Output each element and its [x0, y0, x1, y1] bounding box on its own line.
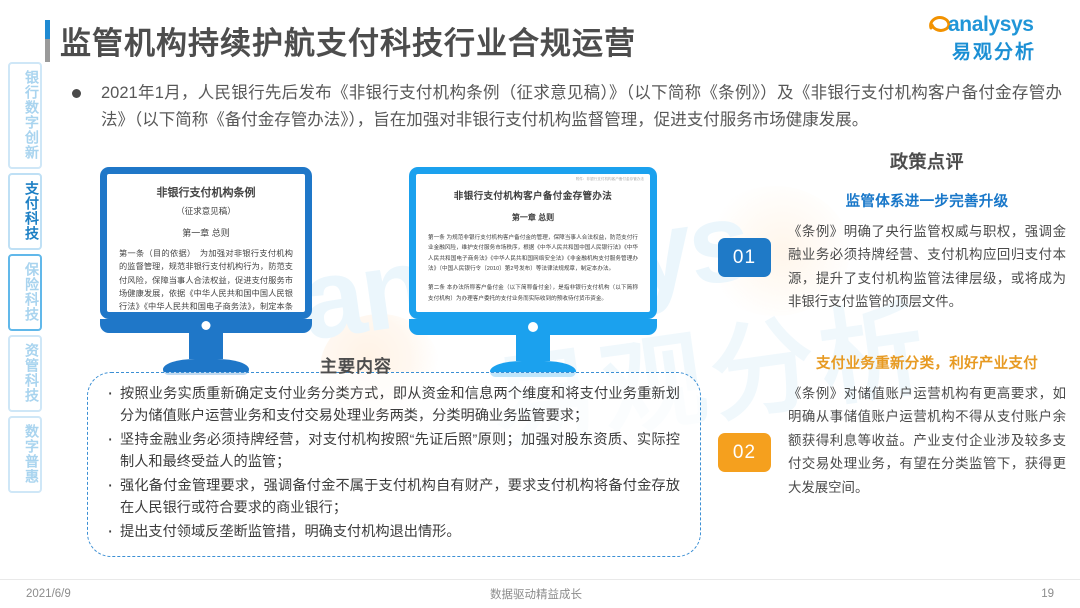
- commentary-subtitle-2: 支付业务重新分类，利好产业支付: [788, 352, 1066, 373]
- main-content-list: 按照业务实质重新确定支付业务分类方式，即从资金和信息两个维度和将支付业务重新划分…: [104, 383, 680, 543]
- sidebar-nav[interactable]: 银行数字创新 支付科技 保险科技 资管科技 数字普惠: [8, 62, 42, 493]
- main-content-box: 按照业务实质重新确定支付业务分类方式，即从资金和信息两个维度和将支付业务重新划分…: [87, 372, 701, 557]
- commentary-body-1: 《条例》明确了央行监管权威与职权，强调金融业务必须持牌经营、支付机构应回归支付本…: [788, 220, 1066, 314]
- sidebar-item-asset-management-tech[interactable]: 资管科技: [8, 335, 42, 412]
- doc-2-paragraph-1: 第一条 为规范非银行支付机构客户备付金的管理，保障当事人合法权益，防范支付行业金…: [428, 233, 638, 274]
- commentary-block-1: 监管体系进一步完善升级 《条例》明确了央行监管权威与职权，强调金融业务必须持牌经…: [788, 190, 1066, 314]
- monitor-2-power-dot-icon: [528, 322, 538, 332]
- status-badge-02: 02: [718, 433, 771, 472]
- sidebar-item-digital-inclusive-finance[interactable]: 数字普惠: [8, 416, 42, 493]
- intro-bullet-text: 2021年1月，人民银行先后发布《非银行支付机构条例（征求意见稿）》（以下简称《…: [101, 80, 1062, 133]
- monitor-1-power-dot-icon: [202, 321, 211, 330]
- doc-2-chapter: 第一章 总则: [428, 212, 638, 223]
- sidebar-item-insurance-tech[interactable]: 保险科技: [8, 254, 42, 331]
- doc-1-body: 第一条（目的依据） 为加强对非银行支付机构的监督管理，规范非银行支付机构行为，防…: [119, 247, 293, 312]
- doc-2-body: 第一条 为规范非银行支付机构客户备付金的管理，保障当事人合法权益，防范支付行业金…: [428, 233, 638, 304]
- doc-1-subtitle: （征求意见稿）: [119, 205, 293, 217]
- monitor-2-bezel: 附件：非银行支付机构客户备付金存管办法 非银行支付机构客户备付金存管办法 第一章…: [409, 167, 657, 319]
- doc-2-content: 非银行支付机构客户备付金存管办法 第一章 总则 第一条 为规范非银行支付机构客户…: [416, 174, 650, 312]
- monitor-2-screen: 附件：非银行支付机构客户备付金存管办法 非银行支付机构客户备付金存管办法 第一章…: [416, 174, 650, 312]
- list-item: 强化备付金管理要求，强调备付金不属于支付机构自有财产，要求支付机构将备付金存放在…: [104, 475, 680, 520]
- logo-chinese: 易观分析: [952, 37, 1036, 64]
- footer-divider: [0, 579, 1080, 580]
- bullet-dot-icon: [72, 89, 81, 98]
- main-content-label: 主要内容: [320, 352, 392, 377]
- logo-english: analysys: [948, 13, 1034, 37]
- sidebar-item-payment-tech[interactable]: 支付科技: [8, 173, 42, 250]
- list-item: 按照业务实质重新确定支付业务分类方式，即从资金和信息两个维度和将支付业务重新划分…: [104, 383, 680, 428]
- document-mockup-1: 非银行支付机构条例 （征求意见稿） 第一章 总则 第一条（目的依据） 为加强对非…: [100, 167, 312, 375]
- doc-2-title: 非银行支付机构客户备付金存管办法: [428, 188, 638, 202]
- title-accent-bar: [45, 20, 50, 62]
- doc-2-header-note: 附件：非银行支付机构客户备付金存管办法: [576, 177, 644, 182]
- list-item: 坚持金融业务必须持牌经营，对支付机构按照“先证后照”原则；加强对股东资质、实际控…: [104, 429, 680, 474]
- footer-tagline: 数据驱动精益成长: [71, 586, 1041, 602]
- footer-page-number: 19: [1041, 588, 1054, 600]
- doc-1-chapter: 第一章 总则: [119, 226, 293, 239]
- commentary-subtitle-1: 监管体系进一步完善升级: [788, 190, 1066, 211]
- list-item: 提出支付领域反垄断监管措，明确支付机构退出情形。: [104, 521, 680, 543]
- status-badge-01: 01: [718, 238, 771, 277]
- monitor-1-chin: [100, 319, 312, 333]
- document-mockup-2: 附件：非银行支付机构客户备付金存管办法 非银行支付机构客户备付金存管办法 第一章…: [409, 167, 657, 377]
- monitor-1-screen: 非银行支付机构条例 （征求意见稿） 第一章 总则 第一条（目的依据） 为加强对非…: [107, 174, 305, 312]
- commentary-heading: 政策点评: [788, 148, 1066, 174]
- commentary-panel: 政策点评 监管体系进一步完善升级 《条例》明确了央行监管权威与职权，强调金融业务…: [788, 148, 1066, 499]
- monitor-2-neck: [516, 335, 550, 361]
- commentary-body-2: 《条例》对储值账户运营机构有更高要求，如明确从事储值账户运营机构不得从支付账户余…: [788, 382, 1066, 499]
- footer-date: 2021/6/9: [26, 588, 71, 600]
- doc-2-paragraph-2: 第二条 本办法所称客户备付金（以下简称备付金），是指非银行支付机构（以下简称支付…: [428, 283, 638, 304]
- doc-1-content: 非银行支付机构条例 （征求意见稿） 第一章 总则 第一条（目的依据） 为加强对非…: [107, 174, 305, 312]
- brand-logo: analysys 易观分析: [926, 10, 1054, 66]
- monitor-1-bezel: 非银行支付机构条例 （征求意见稿） 第一章 总则 第一条（目的依据） 为加强对非…: [100, 167, 312, 319]
- page-title: 监管机构持续护航支付科技行业合规运营: [60, 18, 636, 63]
- sidebar-item-bank-digital-innovation[interactable]: 银行数字创新: [8, 62, 42, 169]
- intro-bullet: 2021年1月，人民银行先后发布《非银行支付机构条例（征求意见稿）》（以下简称《…: [72, 80, 1062, 133]
- commentary-block-2: 支付业务重新分类，利好产业支付 《条例》对储值账户运营机构有更高要求，如明确从事…: [788, 352, 1066, 499]
- footer: 2021/6/9 数据驱动精益成长 19: [0, 586, 1080, 602]
- doc-1-title: 非银行支付机构条例: [119, 184, 293, 200]
- monitor-2-chin: [409, 319, 657, 335]
- slide-root: analysys 易观分析 监管机构持续护航支付科技行业合规运营 analysy…: [0, 0, 1080, 608]
- monitor-1-neck: [189, 333, 223, 359]
